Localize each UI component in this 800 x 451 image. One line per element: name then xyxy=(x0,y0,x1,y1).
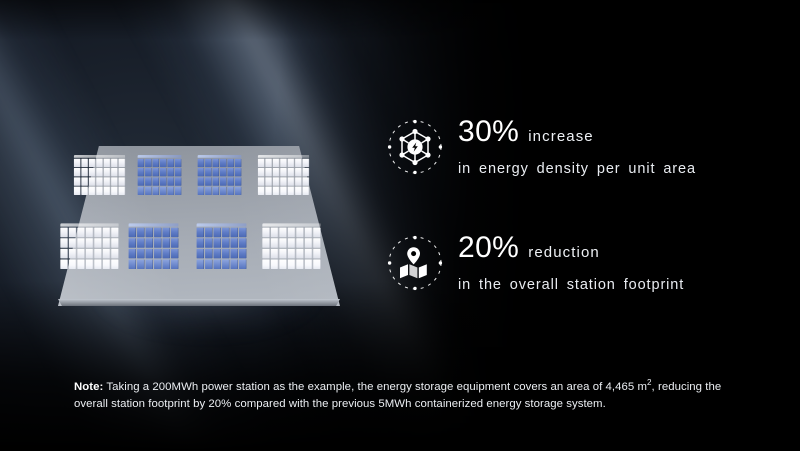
stat-headline: 20% reduction xyxy=(458,232,786,264)
battery-module xyxy=(214,228,221,238)
battery-module xyxy=(205,177,212,185)
battery-module xyxy=(279,238,286,248)
battery-module xyxy=(313,259,320,269)
rack-shelf xyxy=(262,238,320,248)
battery-module xyxy=(77,228,84,238)
battery-module xyxy=(167,177,174,185)
battery-module xyxy=(220,177,227,185)
rack-top-cap xyxy=(74,155,125,158)
battery-module xyxy=(137,259,144,269)
battery-module xyxy=(119,168,126,176)
battery-module xyxy=(258,187,265,195)
stat-item-energy-density: 30% increase in energy density per unit … xyxy=(386,112,786,212)
battery-module xyxy=(258,168,265,176)
battery-module xyxy=(167,187,174,195)
battery-module xyxy=(205,159,212,167)
battery-module xyxy=(262,228,269,238)
battery-module xyxy=(280,168,287,176)
battery-module xyxy=(60,238,67,248)
rack-shelf xyxy=(197,238,247,248)
battery-module xyxy=(86,238,93,248)
battery-module xyxy=(153,168,160,176)
rack-top-cap xyxy=(197,223,247,226)
battery-module xyxy=(220,187,227,195)
rack-shelf xyxy=(74,187,125,195)
battery-module xyxy=(258,177,265,185)
battery-module xyxy=(239,228,246,238)
battery-module xyxy=(60,259,67,269)
battery-module xyxy=(129,249,136,259)
battery-module xyxy=(273,177,280,185)
battery-module xyxy=(227,168,234,176)
battery-module xyxy=(305,228,312,238)
battery-module xyxy=(111,187,118,195)
battery-module xyxy=(239,259,246,269)
battery-module xyxy=(119,159,126,167)
rack-top-cap xyxy=(60,223,118,226)
battery-module xyxy=(104,177,111,185)
battery-module xyxy=(288,168,295,176)
battery-module xyxy=(119,187,126,195)
battery-module xyxy=(222,238,229,248)
battery-module xyxy=(154,228,161,238)
rack-shelf xyxy=(60,259,118,269)
rack-shelf xyxy=(198,187,242,195)
battery-module xyxy=(89,187,96,195)
battery-module xyxy=(214,259,221,269)
battery-module xyxy=(74,159,81,167)
battery-module xyxy=(111,168,118,176)
battery-module xyxy=(74,187,81,195)
battery-module xyxy=(205,238,212,248)
rack-group xyxy=(74,155,125,195)
rack-group xyxy=(138,155,182,195)
battery-module xyxy=(222,249,229,259)
battery-module xyxy=(197,249,204,259)
energy-density-icon xyxy=(386,118,444,176)
battery-module xyxy=(197,259,204,269)
rack-group xyxy=(129,223,179,269)
rack-shelf xyxy=(138,159,182,167)
battery-module xyxy=(103,238,110,248)
battery-module xyxy=(262,259,269,269)
battery-module xyxy=(227,187,234,195)
battery-module xyxy=(288,259,295,269)
rack-shelf xyxy=(60,238,118,248)
rack-shelf xyxy=(138,177,182,185)
battery-module xyxy=(197,228,204,238)
rack-shelf xyxy=(129,228,179,238)
battery-module xyxy=(220,168,227,176)
rack-shelf xyxy=(197,249,247,259)
battery-module xyxy=(295,187,302,195)
battery-module xyxy=(146,238,153,248)
battery-module xyxy=(86,259,93,269)
rack-group xyxy=(60,223,118,269)
stat-description: in energy density per unit area xyxy=(458,161,786,177)
rack-shelf xyxy=(262,249,320,259)
battery-module xyxy=(222,228,229,238)
battery-module xyxy=(103,249,110,259)
battery-module xyxy=(273,168,280,176)
battery-module xyxy=(279,249,286,259)
battery-module xyxy=(96,177,103,185)
battery-module xyxy=(262,238,269,248)
battery-module xyxy=(138,187,145,195)
battery-module xyxy=(235,159,242,167)
battery-module xyxy=(137,238,144,248)
battery-module xyxy=(279,228,286,238)
battery-module xyxy=(153,187,160,195)
background-top-fade xyxy=(0,0,800,40)
battery-module xyxy=(303,168,310,176)
battery-module xyxy=(171,228,178,238)
battery-module xyxy=(86,249,93,259)
battery-module xyxy=(296,259,303,269)
battery-module xyxy=(111,228,118,238)
battery-module xyxy=(154,238,161,248)
battery-module xyxy=(213,168,220,176)
rack-shelf xyxy=(129,249,179,259)
rack-top-cap xyxy=(138,155,182,158)
battery-module xyxy=(69,249,76,259)
battery-module xyxy=(129,259,136,269)
battery-module xyxy=(94,228,101,238)
rack-shelf xyxy=(60,249,118,259)
battery-module xyxy=(175,177,182,185)
battery-module xyxy=(89,159,96,167)
battery-module xyxy=(305,259,312,269)
battery-module xyxy=(198,177,205,185)
battery-module xyxy=(94,238,101,248)
battery-module xyxy=(60,228,67,238)
battery-module xyxy=(104,168,111,176)
battery-module xyxy=(163,259,170,269)
battery-module xyxy=(138,159,145,167)
rack-shelf xyxy=(198,177,242,185)
battery-module xyxy=(305,249,312,259)
battery-module xyxy=(231,259,238,269)
battery-module xyxy=(111,249,118,259)
battery-module xyxy=(119,177,126,185)
rack-shelf xyxy=(138,168,182,176)
rack-shelf xyxy=(262,259,320,269)
battery-module xyxy=(214,249,221,259)
battery-module xyxy=(271,238,278,248)
battery-module xyxy=(154,249,161,259)
battery-module xyxy=(265,159,272,167)
battery-module xyxy=(146,228,153,238)
battery-module xyxy=(295,177,302,185)
footnote-text-before: Taking a 200MWh power station as the exa… xyxy=(103,381,647,393)
rack-shelf xyxy=(74,159,125,167)
battery-module xyxy=(213,187,220,195)
battery-module xyxy=(175,168,182,176)
rack-top-cap xyxy=(262,223,320,226)
battery-module xyxy=(167,159,174,167)
battery-module xyxy=(145,168,152,176)
stat-kind: reduction xyxy=(528,244,600,261)
battery-module xyxy=(288,249,295,259)
battery-module xyxy=(153,177,160,185)
rack-shelf xyxy=(198,159,242,167)
battery-module xyxy=(96,168,103,176)
battery-module xyxy=(222,259,229,269)
battery-module xyxy=(160,177,167,185)
battery-module xyxy=(163,249,170,259)
battery-module xyxy=(154,259,161,269)
battery-module xyxy=(265,168,272,176)
battery-module xyxy=(305,238,312,248)
slide-root: 30% increase in energy density per unit … xyxy=(0,0,800,451)
battery-module xyxy=(313,238,320,248)
rack-top-cap xyxy=(198,155,242,158)
battery-module xyxy=(86,228,93,238)
battery-module xyxy=(104,187,111,195)
statistics-list: 30% increase in energy density per unit … xyxy=(386,112,786,328)
battery-module xyxy=(296,249,303,259)
rack-shelf xyxy=(258,177,309,185)
battery-module xyxy=(146,259,153,269)
battery-module xyxy=(111,159,118,167)
stat-text-energy-density: 30% increase in energy density per unit … xyxy=(458,112,786,177)
rack-shelf xyxy=(74,168,125,176)
battery-module xyxy=(288,177,295,185)
rack-shelf xyxy=(129,259,179,269)
battery-module xyxy=(146,249,153,259)
battery-module xyxy=(145,159,152,167)
battery-module xyxy=(239,249,246,259)
platform-front-edge xyxy=(58,299,340,306)
stat-kind: increase xyxy=(528,128,594,145)
battery-module xyxy=(81,177,88,185)
rack-group xyxy=(197,223,247,269)
battery-module xyxy=(231,228,238,238)
battery-module xyxy=(265,177,272,185)
stat-headline: 30% increase xyxy=(458,116,786,148)
battery-module xyxy=(69,238,76,248)
battery-module xyxy=(145,177,152,185)
battery-module xyxy=(77,238,84,248)
rack-shelf xyxy=(258,159,309,167)
battery-module xyxy=(171,259,178,269)
battery-module xyxy=(265,187,272,195)
battery-module xyxy=(235,177,242,185)
rack-shelf xyxy=(60,228,118,238)
station-footprint-icon xyxy=(386,234,444,292)
battery-module xyxy=(313,249,320,259)
battery-module xyxy=(213,159,220,167)
stat-percent: 20% xyxy=(458,232,519,264)
battery-module xyxy=(239,238,246,248)
battery-module xyxy=(111,238,118,248)
battery-module xyxy=(81,187,88,195)
battery-module xyxy=(74,177,81,185)
battery-module xyxy=(129,238,136,248)
battery-module xyxy=(262,249,269,259)
battery-module xyxy=(288,238,295,248)
battery-module xyxy=(69,259,76,269)
rack-shelf xyxy=(262,228,320,238)
battery-storage-platform-render xyxy=(58,128,358,328)
rack-group xyxy=(262,223,320,269)
rack-top-cap xyxy=(258,155,309,158)
rack-shelf xyxy=(138,187,182,195)
rack-shelf xyxy=(198,168,242,176)
battery-module xyxy=(175,159,182,167)
rack-shelf xyxy=(197,228,247,238)
battery-module xyxy=(171,249,178,259)
battery-module xyxy=(303,159,310,167)
battery-module xyxy=(77,259,84,269)
battery-module xyxy=(231,249,238,259)
battery-module xyxy=(288,228,295,238)
battery-module xyxy=(160,168,167,176)
battery-module xyxy=(288,159,295,167)
rack-shelf xyxy=(129,238,179,248)
battery-module xyxy=(89,168,96,176)
battery-module xyxy=(271,228,278,238)
battery-module xyxy=(235,168,242,176)
battery-module xyxy=(175,187,182,195)
battery-module xyxy=(231,238,238,248)
battery-module xyxy=(258,159,265,167)
battery-module xyxy=(280,159,287,167)
battery-module xyxy=(227,177,234,185)
battery-module xyxy=(171,238,178,248)
battery-module xyxy=(96,159,103,167)
battery-module xyxy=(205,228,212,238)
footnote: Note: Taking a 200MWh power station as t… xyxy=(74,374,734,414)
battery-module xyxy=(295,159,302,167)
rack-shelf xyxy=(258,187,309,195)
battery-module xyxy=(138,168,145,176)
battery-module xyxy=(163,228,170,238)
battery-module xyxy=(69,228,76,238)
battery-module xyxy=(60,249,67,259)
battery-module xyxy=(280,177,287,185)
battery-module xyxy=(279,259,286,269)
rack-group xyxy=(258,155,309,195)
battery-module xyxy=(198,168,205,176)
rack-top-cap xyxy=(129,223,179,226)
battery-module xyxy=(205,259,212,269)
battery-module xyxy=(138,177,145,185)
stat-text-station-footprint: 20% reduction in the overall station foo… xyxy=(458,228,786,293)
battery-module xyxy=(205,168,212,176)
battery-module xyxy=(111,177,118,185)
battery-module xyxy=(104,159,111,167)
battery-module xyxy=(103,259,110,269)
battery-module xyxy=(167,168,174,176)
battery-module xyxy=(205,249,212,259)
battery-module xyxy=(89,177,96,185)
battery-module xyxy=(235,187,242,195)
battery-module xyxy=(129,228,136,238)
battery-module xyxy=(205,187,212,195)
battery-module xyxy=(280,187,287,195)
battery-module xyxy=(227,159,234,167)
battery-module xyxy=(160,159,167,167)
battery-module xyxy=(273,187,280,195)
battery-module xyxy=(94,249,101,259)
battery-module xyxy=(213,177,220,185)
stat-percent: 30% xyxy=(458,116,519,148)
battery-module xyxy=(303,187,310,195)
battery-module xyxy=(296,228,303,238)
battery-module xyxy=(273,159,280,167)
rack-group xyxy=(198,155,242,195)
battery-module xyxy=(198,187,205,195)
battery-module xyxy=(153,159,160,167)
battery-module xyxy=(295,168,302,176)
battery-module xyxy=(271,259,278,269)
battery-module xyxy=(111,259,118,269)
battery-module xyxy=(137,228,144,238)
rack-shelf xyxy=(74,177,125,185)
rack-shelf xyxy=(258,168,309,176)
battery-module xyxy=(103,228,110,238)
battery-module xyxy=(96,187,103,195)
battery-module xyxy=(163,238,170,248)
battery-module xyxy=(303,177,310,185)
battery-module xyxy=(77,249,84,259)
battery-module xyxy=(271,249,278,259)
battery-module xyxy=(288,187,295,195)
battery-module xyxy=(313,228,320,238)
battery-module xyxy=(296,238,303,248)
battery-module xyxy=(220,159,227,167)
battery-module xyxy=(160,187,167,195)
stat-item-station-footprint: 20% reduction in the overall station foo… xyxy=(386,228,786,328)
battery-module xyxy=(94,259,101,269)
rack-shelf xyxy=(197,259,247,269)
stat-description: in the overall station footprint xyxy=(458,277,786,293)
battery-module xyxy=(81,159,88,167)
battery-module xyxy=(74,168,81,176)
battery-module xyxy=(214,238,221,248)
battery-module xyxy=(197,238,204,248)
battery-module xyxy=(145,187,152,195)
battery-module xyxy=(137,249,144,259)
battery-module xyxy=(198,159,205,167)
footnote-label: Note: xyxy=(74,381,103,393)
battery-module xyxy=(81,168,88,176)
